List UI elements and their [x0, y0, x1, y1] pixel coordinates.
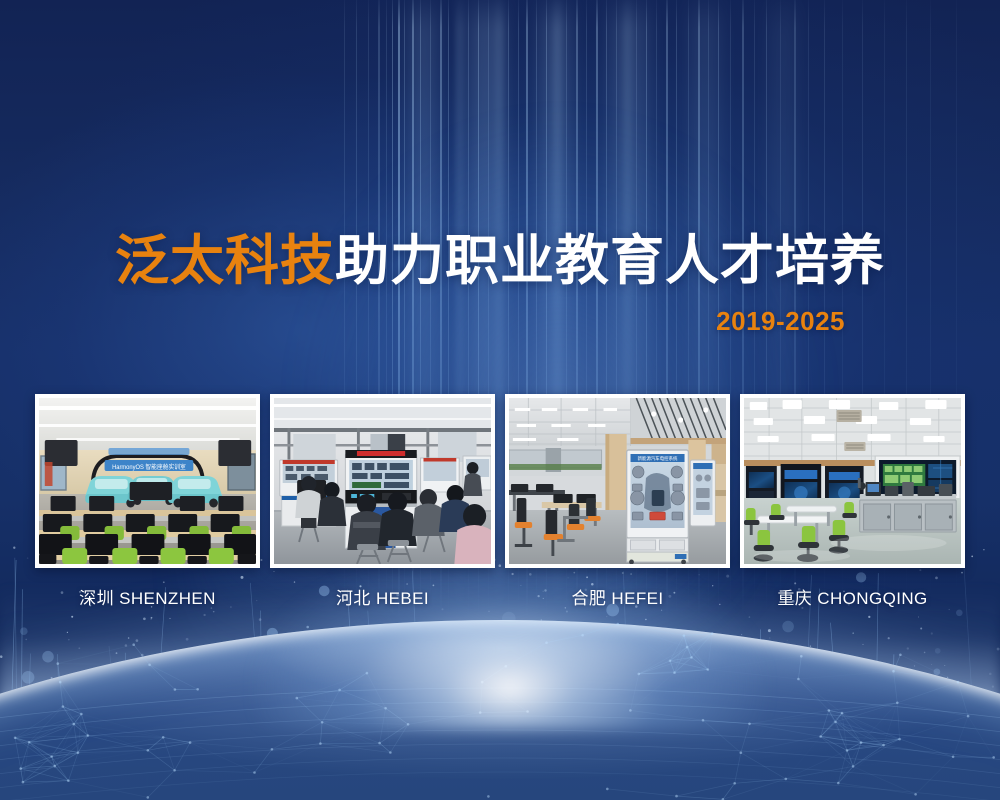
photo-image-shenzhen: HarmonyOS 智能座舱实训室 [39, 398, 256, 564]
photo-captions: 深圳 SHENZHEN 河北 HEBEI 合肥 HEFEI 重庆 CHONGQI… [35, 584, 965, 609]
svg-text:新能源汽车电控系统: 新能源汽车电控系统 [638, 455, 678, 462]
title-brand-text: 泛太科技 [115, 231, 335, 291]
photo-gallery: HarmonyOS 智能座舱实训室 [35, 394, 965, 568]
gallery-photo-hebei[interactable] [270, 394, 495, 568]
svg-text:HarmonyOS 智能座舱实训室: HarmonyOS 智能座舱实训室 [112, 463, 186, 471]
year-range-subtitle: 2019-2025 [716, 306, 845, 337]
star-field-decoration [0, 540, 1000, 740]
gallery-photo-hefei[interactable]: 新能源汽车电控系统 [505, 394, 730, 568]
caption-hefei: 合肥 HEFEI [505, 584, 730, 609]
gallery-photo-shenzhen[interactable]: HarmonyOS 智能座舱实训室 [35, 394, 260, 568]
caption-shenzhen: 深圳 SHENZHEN [35, 584, 260, 609]
gallery-photo-chongqing[interactable] [740, 394, 965, 568]
promo-banner: 泛太科技助力职业教育人才培养 2019-2025 [0, 0, 1000, 800]
title-rest-text: 助力职业教育人才培养 [335, 231, 885, 291]
photo-image-chongqing [744, 398, 961, 564]
caption-hebei: 河北 HEBEI [270, 584, 495, 609]
subtitle-row: 2019-2025 [0, 306, 1000, 337]
globe-rim-highlight [0, 620, 1000, 800]
network-mesh-decoration [0, 540, 1000, 800]
globe-horizon-decoration [0, 540, 1000, 800]
title-block: 泛太科技助力职业教育人才培养 [0, 232, 1000, 290]
photo-image-hebei [274, 398, 491, 564]
horizon-glow [250, 540, 770, 730]
photo-image-hefei: 新能源汽车电控系统 [509, 398, 726, 564]
page-title: 泛太科技助力职业教育人才培养 [0, 232, 1000, 290]
caption-chongqing: 重庆 CHONGQING [740, 584, 965, 609]
globe-body [0, 620, 1000, 800]
